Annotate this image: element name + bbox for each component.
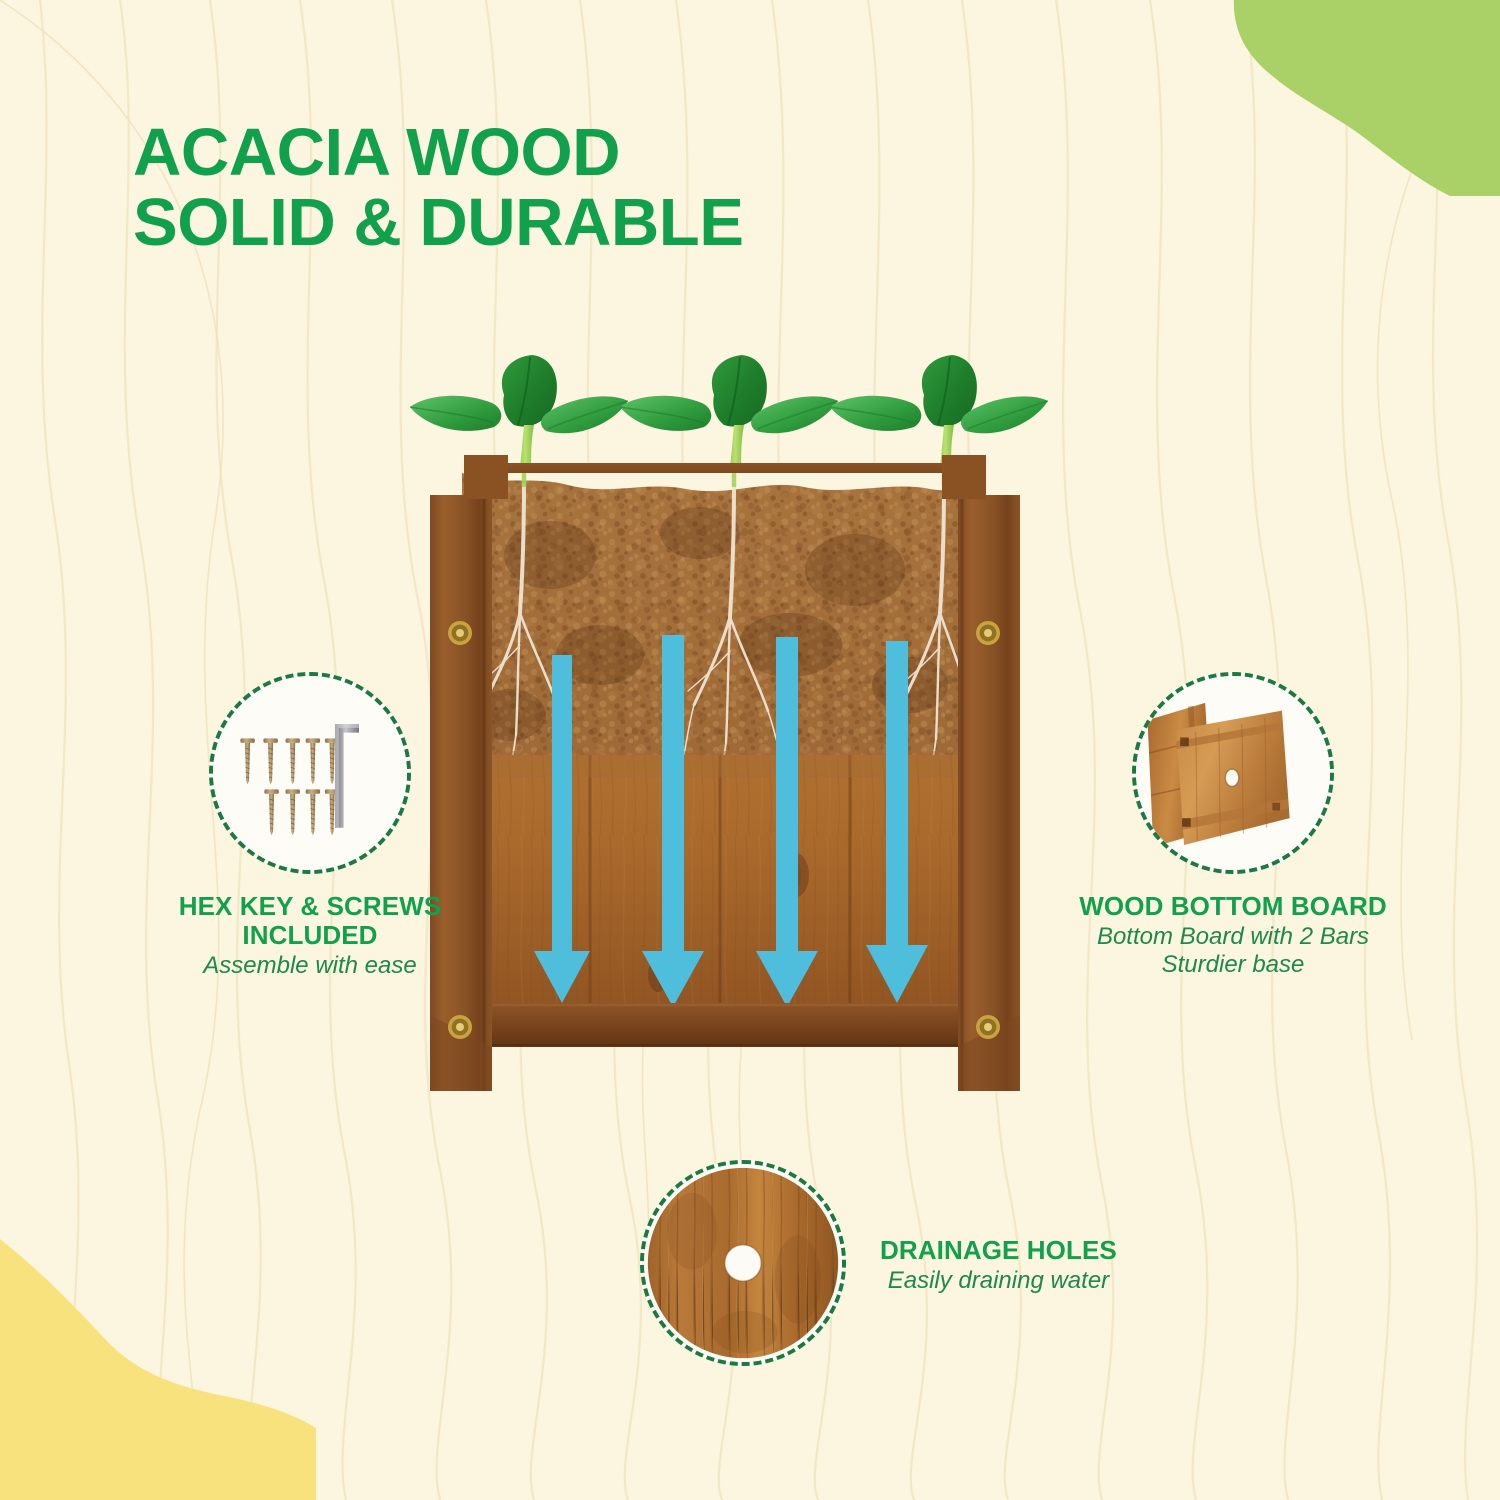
feature-subtitle: Easily draining water bbox=[880, 1267, 1117, 1295]
feature-drainage-holes: DRAINAGE HOLES Easily draining water bbox=[640, 1160, 1200, 1366]
corner-post-right bbox=[958, 495, 1020, 1091]
wood-bottom-board-icon bbox=[1132, 672, 1334, 874]
feature-wood-bottom-board: WOOD BOTTOM BOARD Bottom Board with 2 Ba… bbox=[1028, 672, 1438, 978]
decorative-blob-yellow-bottom-left bbox=[0, 1224, 316, 1500]
infographic-canvas: ACACIA WOOD SOLID & DURABLE bbox=[0, 0, 1500, 1500]
screws-and-hex-key-icon bbox=[209, 672, 411, 874]
headline-line-2: SOLID & DURABLE bbox=[133, 188, 743, 258]
drainage-hole-icon bbox=[640, 1160, 846, 1366]
decorative-blob-green-top-right bbox=[1174, 0, 1500, 196]
feature-title: WOOD BOTTOM BOARD bbox=[1028, 892, 1438, 921]
feature-subtitle: Bottom Board with 2 Bars Sturdier base bbox=[1028, 923, 1438, 978]
planter-base-rail bbox=[462, 1003, 978, 1047]
feature-hex-key-screws: HEX KEY & SCREWS INCLUDED Assemble with … bbox=[110, 672, 510, 980]
page-title: ACACIA WOOD SOLID & DURABLE bbox=[133, 118, 743, 257]
feature-title: HEX KEY & SCREWS INCLUDED bbox=[110, 892, 510, 950]
headline-line-1: ACACIA WOOD bbox=[133, 118, 743, 188]
feature-title: DRAINAGE HOLES bbox=[880, 1236, 1117, 1265]
feature-subtitle: Assemble with ease bbox=[110, 952, 510, 980]
